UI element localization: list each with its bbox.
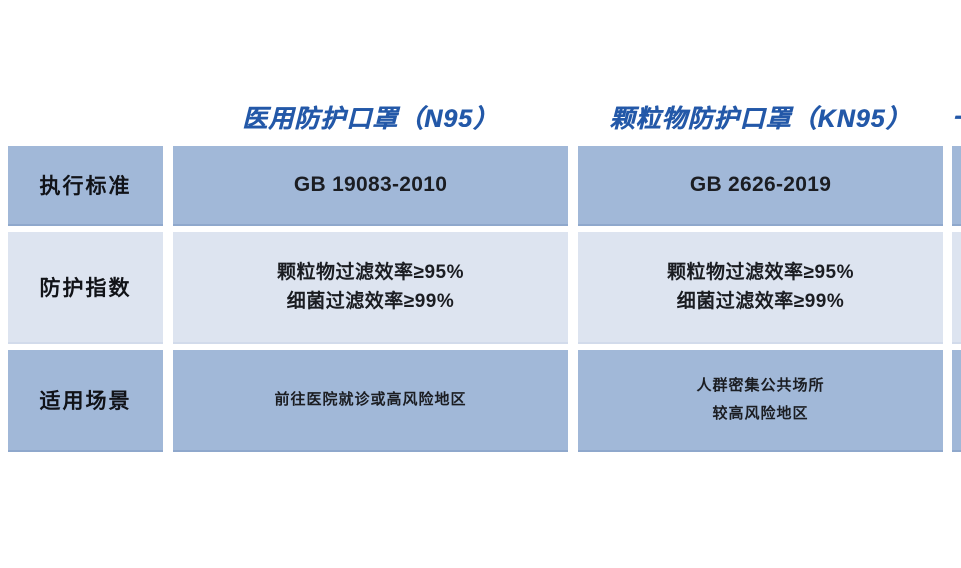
column-title-kn95: 颗粒物防护口罩（KN95） [578, 98, 943, 140]
column-title-third-partial: 一 [952, 98, 961, 140]
row-label-text: 执行标准 [40, 170, 132, 200]
column-title-row: 医用防护口罩（N95） 颗粒物防护口罩（KN95） 一 [0, 98, 961, 140]
table-row: 执行标准 GB 19083-2010 GB 2626-2019 [0, 146, 961, 226]
comparison-table: 执行标准 GB 19083-2010 GB 2626-2019 防护指数 颗粒物… [0, 146, 961, 458]
mask-comparison-infographic: 医用防护口罩（N95） 颗粒物防护口罩（KN95） 一 执行标准 GB 1908… [0, 0, 961, 568]
cell-scenario-kn95: 人群密集公共场所 较高风险地区 [578, 350, 943, 452]
row-label-use-scenario: 适用场景 [8, 350, 163, 452]
column-title-n95: 医用防护口罩（N95） [173, 98, 568, 140]
cell-line: 细菌过滤效率≥99% [677, 287, 844, 316]
row-label-protection-index: 防护指数 [8, 232, 163, 344]
cell-scenario-n95: 前往医院就诊或高风险地区 [173, 350, 568, 452]
cell-line: 细菌过滤效率≥99% [287, 287, 454, 316]
cell-line: 颗粒物过滤效率≥95% [667, 258, 854, 287]
cell-protection-third [952, 232, 961, 344]
cell-standard-third [952, 146, 961, 226]
cell-line: 颗粒物过滤效率≥95% [277, 258, 464, 287]
cell-line: 较高风险地区 [712, 400, 808, 428]
cell-standard-n95: GB 19083-2010 [173, 146, 568, 226]
cell-line: 人群密集公共场所 [696, 372, 824, 400]
table-row: 适用场景 前往医院就诊或高风险地区 人群密集公共场所 较高风险地区 [0, 350, 961, 452]
cell-line: GB 2626-2019 [690, 169, 831, 202]
table-row: 防护指数 颗粒物过滤效率≥95% 细菌过滤效率≥99% 颗粒物过滤效率≥95% … [0, 232, 961, 344]
row-label-text: 适用场景 [40, 385, 132, 415]
cell-protection-n95: 颗粒物过滤效率≥95% 细菌过滤效率≥99% [173, 232, 568, 344]
cell-line: GB 19083-2010 [294, 169, 447, 202]
cell-standard-kn95: GB 2626-2019 [578, 146, 943, 226]
cell-protection-kn95: 颗粒物过滤效率≥95% 细菌过滤效率≥99% [578, 232, 943, 344]
row-label-text: 防护指数 [40, 272, 132, 302]
cell-line: 前往医院就诊或高风险地区 [274, 386, 466, 414]
cell-scenario-third [952, 350, 961, 452]
row-label-standard: 执行标准 [8, 146, 163, 226]
